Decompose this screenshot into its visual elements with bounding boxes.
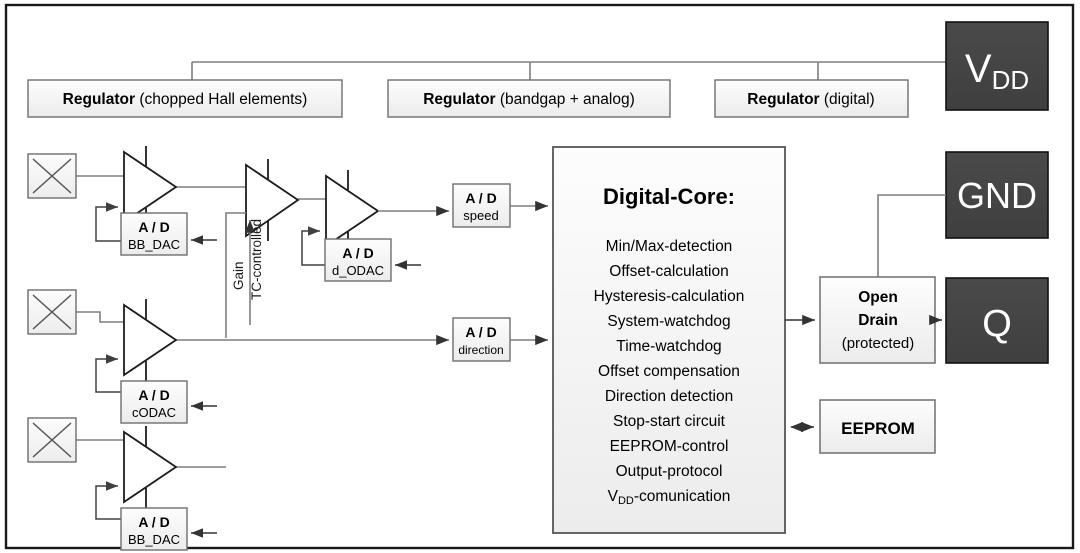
tc-controlled-label: TC-controlled bbox=[249, 219, 264, 300]
open-drain-block[interactable]: Open Drain (protected) bbox=[820, 277, 935, 363]
regulator-analog[interactable]: Regulator (bandgap + analog) bbox=[388, 80, 670, 117]
regulator-digital-rest: (digital) bbox=[820, 91, 875, 108]
pad-gnd[interactable]: GND bbox=[946, 152, 1048, 238]
regulator-digital[interactable]: Regulator (digital) bbox=[715, 80, 908, 117]
regulator-hall[interactable]: Regulator (chopped Hall elements) bbox=[28, 80, 342, 117]
dac-bb-top[interactable]: A / D BB_DAC bbox=[121, 213, 187, 255]
regulator-hall-bold: Regulator bbox=[63, 91, 135, 108]
diagram-svg: Regulator (chopped Hall elements) Regula… bbox=[0, 0, 1080, 553]
dac-codac[interactable]: A / D cODAC bbox=[121, 381, 187, 423]
dac-bb-top-title: A / D bbox=[138, 219, 169, 235]
dac-dodac[interactable]: A / D d_ODAC bbox=[325, 239, 391, 281]
dac-bb-bottom-sub: BB_DAC bbox=[128, 532, 180, 547]
block-diagram-canvas: Regulator (chopped Hall elements) Regula… bbox=[0, 0, 1080, 553]
dac-codac-title: A / D bbox=[138, 387, 169, 403]
digital-core[interactable]: Digital-Core: Min/Max-detection Offset-c… bbox=[553, 147, 785, 533]
core-fn-0: Min/Max-detection bbox=[606, 238, 733, 255]
open-drain-line3: (protected) bbox=[842, 335, 915, 352]
adc-speed-title: A / D bbox=[465, 190, 496, 206]
dac-bb-bottom[interactable]: A / D BB_DAC bbox=[121, 508, 187, 550]
core-fn-10-sub: DD bbox=[618, 495, 634, 507]
adc-direction[interactable]: A / D direction bbox=[453, 318, 510, 361]
pad-q-label: Q bbox=[982, 303, 1012, 345]
hall-element-1[interactable] bbox=[28, 154, 76, 198]
adc-speed[interactable]: A / D speed bbox=[453, 184, 510, 227]
pad-vdd-label: V bbox=[965, 47, 992, 91]
digital-core-title: Digital-Core: bbox=[603, 184, 735, 209]
core-fn-8: EEPROM-control bbox=[610, 438, 729, 455]
dac-codac-sub: cODAC bbox=[132, 405, 176, 420]
pad-vdd-sub: DD bbox=[992, 65, 1030, 95]
core-fn-10-post: -comunication bbox=[634, 488, 731, 505]
dac-bb-bottom-title: A / D bbox=[138, 514, 169, 530]
core-fn-1: Offset-calculation bbox=[609, 263, 728, 280]
dac-bb-top-sub: BB_DAC bbox=[128, 237, 180, 252]
pad-q[interactable]: Q bbox=[946, 278, 1048, 363]
core-fn-9: Output-protocol bbox=[616, 463, 723, 480]
core-fn-10-pre: V bbox=[608, 488, 619, 505]
hall-element-2[interactable] bbox=[28, 290, 76, 334]
regulator-hall-rest: (chopped Hall elements) bbox=[135, 91, 307, 108]
dac-dodac-title: A / D bbox=[342, 245, 373, 261]
svg-text:Regulator (digital): Regulator (digital) bbox=[747, 91, 874, 108]
adc-direction-title: A / D bbox=[465, 324, 496, 340]
adc-direction-sub: direction bbox=[458, 343, 503, 357]
core-fn-3: System-watchdog bbox=[607, 313, 730, 330]
open-drain-line1: Open bbox=[858, 289, 898, 306]
regulator-analog-bold: Regulator bbox=[423, 91, 495, 108]
core-fn-2: Hysteresis-calculation bbox=[594, 288, 745, 305]
hall-element-3[interactable] bbox=[28, 418, 76, 462]
svg-text:Regulator (bandgap + analog): Regulator (bandgap + analog) bbox=[423, 91, 635, 108]
eeprom-block[interactable]: EEPROM bbox=[820, 400, 935, 453]
pad-vdd[interactable]: VDD bbox=[946, 22, 1048, 110]
eeprom-label: EEPROM bbox=[841, 419, 915, 438]
regulator-analog-rest: (bandgap + analog) bbox=[496, 91, 635, 108]
pad-gnd-label: GND bbox=[957, 175, 1037, 216]
regulator-digital-bold: Regulator bbox=[747, 91, 819, 108]
adc-speed-sub: speed bbox=[463, 208, 498, 223]
open-drain-line2: Drain bbox=[858, 312, 898, 329]
core-fn-4: Time-watchdog bbox=[616, 338, 721, 355]
dac-dodac-sub: d_ODAC bbox=[332, 263, 384, 278]
core-fn-6: Direction detection bbox=[605, 388, 733, 405]
gain-label: Gain bbox=[231, 261, 246, 290]
svg-text:Regulator (chopped Hall elemen: Regulator (chopped Hall elements) bbox=[63, 91, 308, 108]
core-fn-5: Offset compensation bbox=[598, 363, 740, 380]
core-fn-7: Stop-start circuit bbox=[613, 413, 726, 430]
